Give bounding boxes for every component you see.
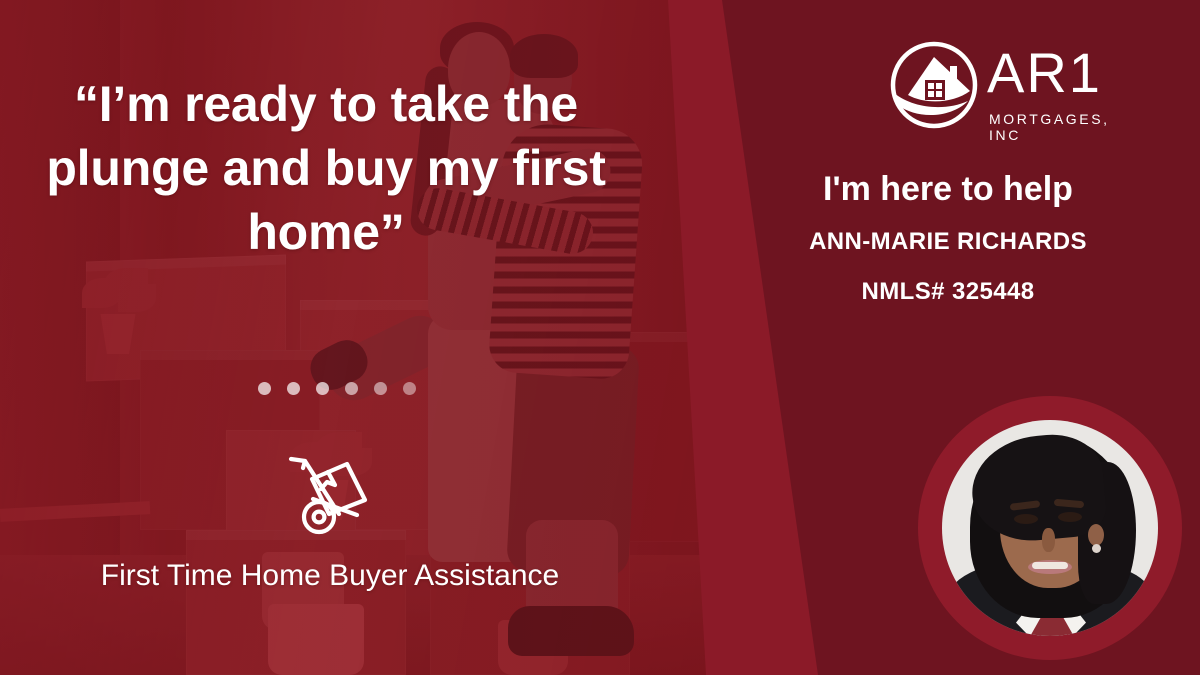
- divider-dot: [258, 382, 271, 395]
- divider-dot: [345, 382, 358, 395]
- agent-portrait: [918, 396, 1182, 660]
- help-headline: I'm here to help: [738, 170, 1158, 209]
- marketing-banner: “I’m ready to take the plunge and buy my…: [0, 0, 1200, 675]
- divider-dot: [316, 382, 329, 395]
- logo-tagline: MORTGAGES, INC: [989, 111, 1114, 143]
- agent-name: ANN-MARIE RICHARDS: [738, 228, 1158, 256]
- hand-truck-icon: [283, 452, 379, 540]
- nmls-number: NMLS# 325448: [738, 278, 1158, 306]
- avatar: [942, 420, 1158, 636]
- divider-dot: [374, 382, 387, 395]
- divider-dot: [287, 382, 300, 395]
- brand-logo: AR1 MORTGAGES, INC: [884, 33, 1114, 145]
- divider-dot: [403, 382, 416, 395]
- caption-text: First Time Home Buyer Assistance: [80, 556, 580, 596]
- house-in-circle-logo-icon: [884, 35, 984, 135]
- headline-quote: “I’m ready to take the plunge and buy my…: [26, 72, 626, 264]
- dot-divider: [258, 382, 416, 395]
- logo-wordmark: AR1: [987, 45, 1102, 101]
